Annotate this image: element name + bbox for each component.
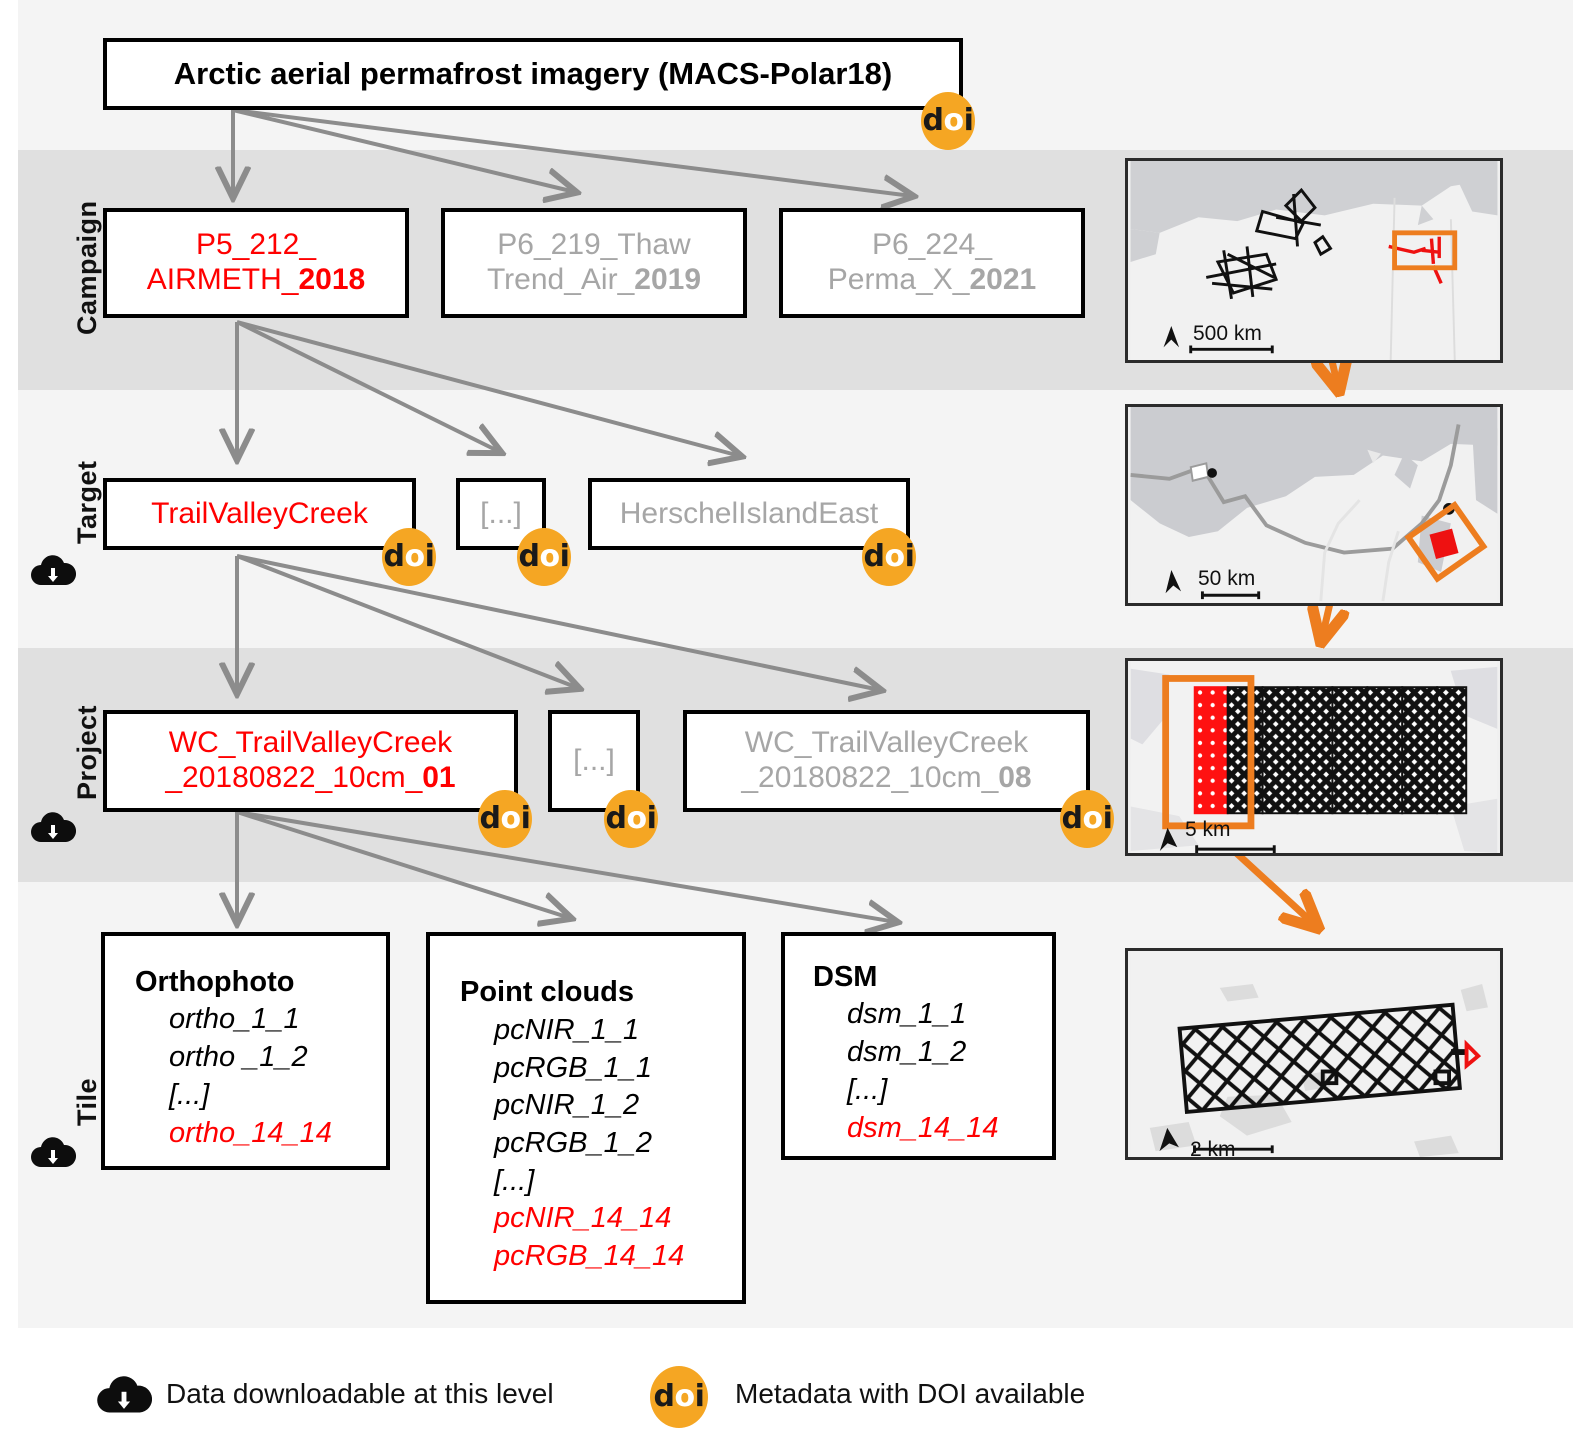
doi-badge-target-1[interactable]: doi <box>382 528 436 586</box>
campaign-box-1-line2: AIRMETH_2018 <box>147 263 365 298</box>
doi-letter-d: d <box>923 106 944 136</box>
project-map-scale-label: 5 km <box>1185 818 1231 842</box>
project-box-1-line2-text: _20180822_10cm_ <box>165 761 422 794</box>
tile-item: [...] <box>494 1163 534 1201</box>
doi-letter-o: o <box>501 804 521 834</box>
doi-badge-dataset[interactable]: doi <box>921 92 975 150</box>
doi-badge-project-3[interactable]: doi <box>1060 790 1114 848</box>
doi-letter-i: i <box>695 1382 705 1412</box>
target-box-1-label: TrailValleyCreek <box>151 497 368 532</box>
project-box-3[interactable]: WC_TrailValleyCreek _20180822_10cm_08 <box>683 710 1090 812</box>
campaign-box-1[interactable]: P5_212_ AIRMETH_2018 <box>103 208 409 318</box>
cloud-download-icon-tile <box>30 1133 76 1169</box>
region-map[interactable] <box>1125 404 1503 606</box>
tile-item: [...] <box>847 1072 887 1110</box>
campaign-box-1-line1: P5_212_ <box>196 228 316 263</box>
doi-letter-d: d <box>606 804 627 834</box>
doi-letter-i: i <box>425 542 435 572</box>
tile-item: dsm_14_14 <box>847 1110 999 1148</box>
diagram-canvas: Arctic aerial permafrost imagery (MACS-P… <box>0 0 1591 1441</box>
tile-item: dsm_1_1 <box>847 996 966 1034</box>
doi-letter-i: i <box>905 542 915 572</box>
doi-letter-d: d <box>384 542 405 572</box>
tile-item: [...] <box>169 1077 209 1115</box>
doi-letter-o: o <box>405 542 425 572</box>
campaign-box-2-year: 2019 <box>634 263 701 296</box>
doi-letter-d: d <box>864 542 885 572</box>
target-box-3-label: HerschelIslandEast <box>620 497 878 532</box>
region-map-scale-label: 50 km <box>1198 567 1255 591</box>
doi-letter-i: i <box>560 542 570 572</box>
campaign-box-2-line1: P6_219_Thaw <box>497 228 690 263</box>
tile-map-scale-label: 2 km <box>1190 1138 1236 1162</box>
tile-box-orthophoto[interactable]: Orthophoto ortho_1_1 ortho _1_2 [...] or… <box>101 932 390 1170</box>
project-box-1-line1: WC_TrailValleyCreek <box>169 726 452 761</box>
doi-letter-d: d <box>654 1382 675 1412</box>
campaign-box-3-line1: P6_224_ <box>872 228 992 263</box>
project-box-1-line2: _20180822_10cm_01 <box>165 761 455 796</box>
doi-letter-i: i <box>521 804 531 834</box>
doi-letter-o: o <box>885 542 905 572</box>
target-box-3[interactable]: HerschelIslandEast <box>588 478 910 550</box>
tile-heading-pointclouds: Point clouds <box>460 976 634 1010</box>
row-label-target: Target <box>72 460 103 544</box>
doi-letter-o: o <box>540 542 560 572</box>
campaign-box-3-year: 2021 <box>970 263 1037 296</box>
project-box-3-index: 08 <box>998 761 1031 794</box>
legend-download-label: Data downloadable at this level <box>166 1378 554 1410</box>
doi-letter-i: i <box>1103 804 1113 834</box>
cloud-download-icon-project <box>30 808 76 844</box>
project-box-2-label: [...] <box>573 744 615 779</box>
tile-item: pcNIR_1_1 <box>494 1012 639 1050</box>
doi-letter-d: d <box>480 804 501 834</box>
tile-heading-dsm: DSM <box>813 961 877 995</box>
doi-badge-target-2[interactable]: doi <box>517 528 571 586</box>
doi-badge-project-2[interactable]: doi <box>604 790 658 848</box>
project-box-1[interactable]: WC_TrailValleyCreek _20180822_10cm_01 <box>103 710 518 812</box>
legend-doi-badge: doi <box>650 1366 708 1428</box>
tile-box-pointclouds[interactable]: Point clouds pcNIR_1_1 pcRGB_1_1 pcNIR_1… <box>426 932 746 1304</box>
doi-letter-d: d <box>519 542 540 572</box>
doi-letter-o: o <box>627 804 647 834</box>
campaign-box-3-line2: Perma_X_2021 <box>828 263 1037 298</box>
tile-item: ortho_1_1 <box>169 1001 300 1039</box>
doi-letter-o: o <box>1083 804 1103 834</box>
tile-item: pcNIR_1_2 <box>494 1087 639 1125</box>
doi-letter-o: o <box>675 1382 695 1412</box>
tile-item: pcRGB_14_14 <box>494 1238 684 1276</box>
row-label-project: Project <box>72 705 103 800</box>
tile-item: ortho_14_14 <box>169 1115 332 1153</box>
row-label-tile: Tile <box>72 1078 103 1126</box>
tile-item: pcRGB_1_2 <box>494 1125 652 1163</box>
project-box-3-line2-text: _20180822_10cm_ <box>741 761 998 794</box>
overview-map[interactable] <box>1125 158 1503 363</box>
project-box-3-line2: _20180822_10cm_08 <box>741 761 1031 796</box>
legend-doi-label: Metadata with DOI available <box>735 1378 1085 1410</box>
project-box-3-line1: WC_TrailValleyCreek <box>745 726 1028 761</box>
campaign-box-1-line2-text: AIRMETH_ <box>147 263 299 296</box>
campaign-box-2-line2: Trend_Air_2019 <box>487 263 701 298</box>
campaign-box-2-line2-text: Trend_Air_ <box>487 263 634 296</box>
overview-map-scale-label: 500 km <box>1193 322 1262 346</box>
campaign-box-3-line2-text: Perma_X_ <box>828 263 970 296</box>
title-box[interactable]: Arctic aerial permafrost imagery (MACS-P… <box>103 38 963 110</box>
title-label: Arctic aerial permafrost imagery (MACS-P… <box>174 56 892 92</box>
campaign-box-2[interactable]: P6_219_Thaw Trend_Air_2019 <box>441 208 747 318</box>
doi-letter-d: d <box>1062 804 1083 834</box>
legend-cloud-download-icon <box>96 1371 152 1415</box>
campaign-box-1-year: 2018 <box>298 263 365 296</box>
project-box-1-index: 01 <box>422 761 455 794</box>
doi-badge-project-1[interactable]: doi <box>478 790 532 848</box>
doi-badge-target-3[interactable]: doi <box>862 528 916 586</box>
doi-letter-i: i <box>647 804 657 834</box>
campaign-box-3[interactable]: P6_224_ Perma_X_2021 <box>779 208 1085 318</box>
project-map[interactable] <box>1125 658 1503 856</box>
target-box-2-label: [...] <box>480 497 522 532</box>
tile-map[interactable] <box>1125 948 1503 1160</box>
cloud-download-icon-target <box>30 551 76 587</box>
doi-letter-i: i <box>964 106 974 136</box>
doi-letter-o: o <box>944 106 964 136</box>
tile-item: ortho _1_2 <box>169 1039 308 1077</box>
target-box-1[interactable]: TrailValleyCreek <box>103 478 416 550</box>
tile-box-dsm[interactable]: DSM dsm_1_1 dsm_1_2 [...] dsm_14_14 <box>781 932 1056 1160</box>
tile-item: pcRGB_1_1 <box>494 1050 652 1088</box>
tile-item: dsm_1_2 <box>847 1034 966 1072</box>
tile-item: pcNIR_14_14 <box>494 1200 671 1238</box>
row-label-campaign: Campaign <box>72 200 103 335</box>
tile-heading-orthophoto: Orthophoto <box>135 966 294 1000</box>
